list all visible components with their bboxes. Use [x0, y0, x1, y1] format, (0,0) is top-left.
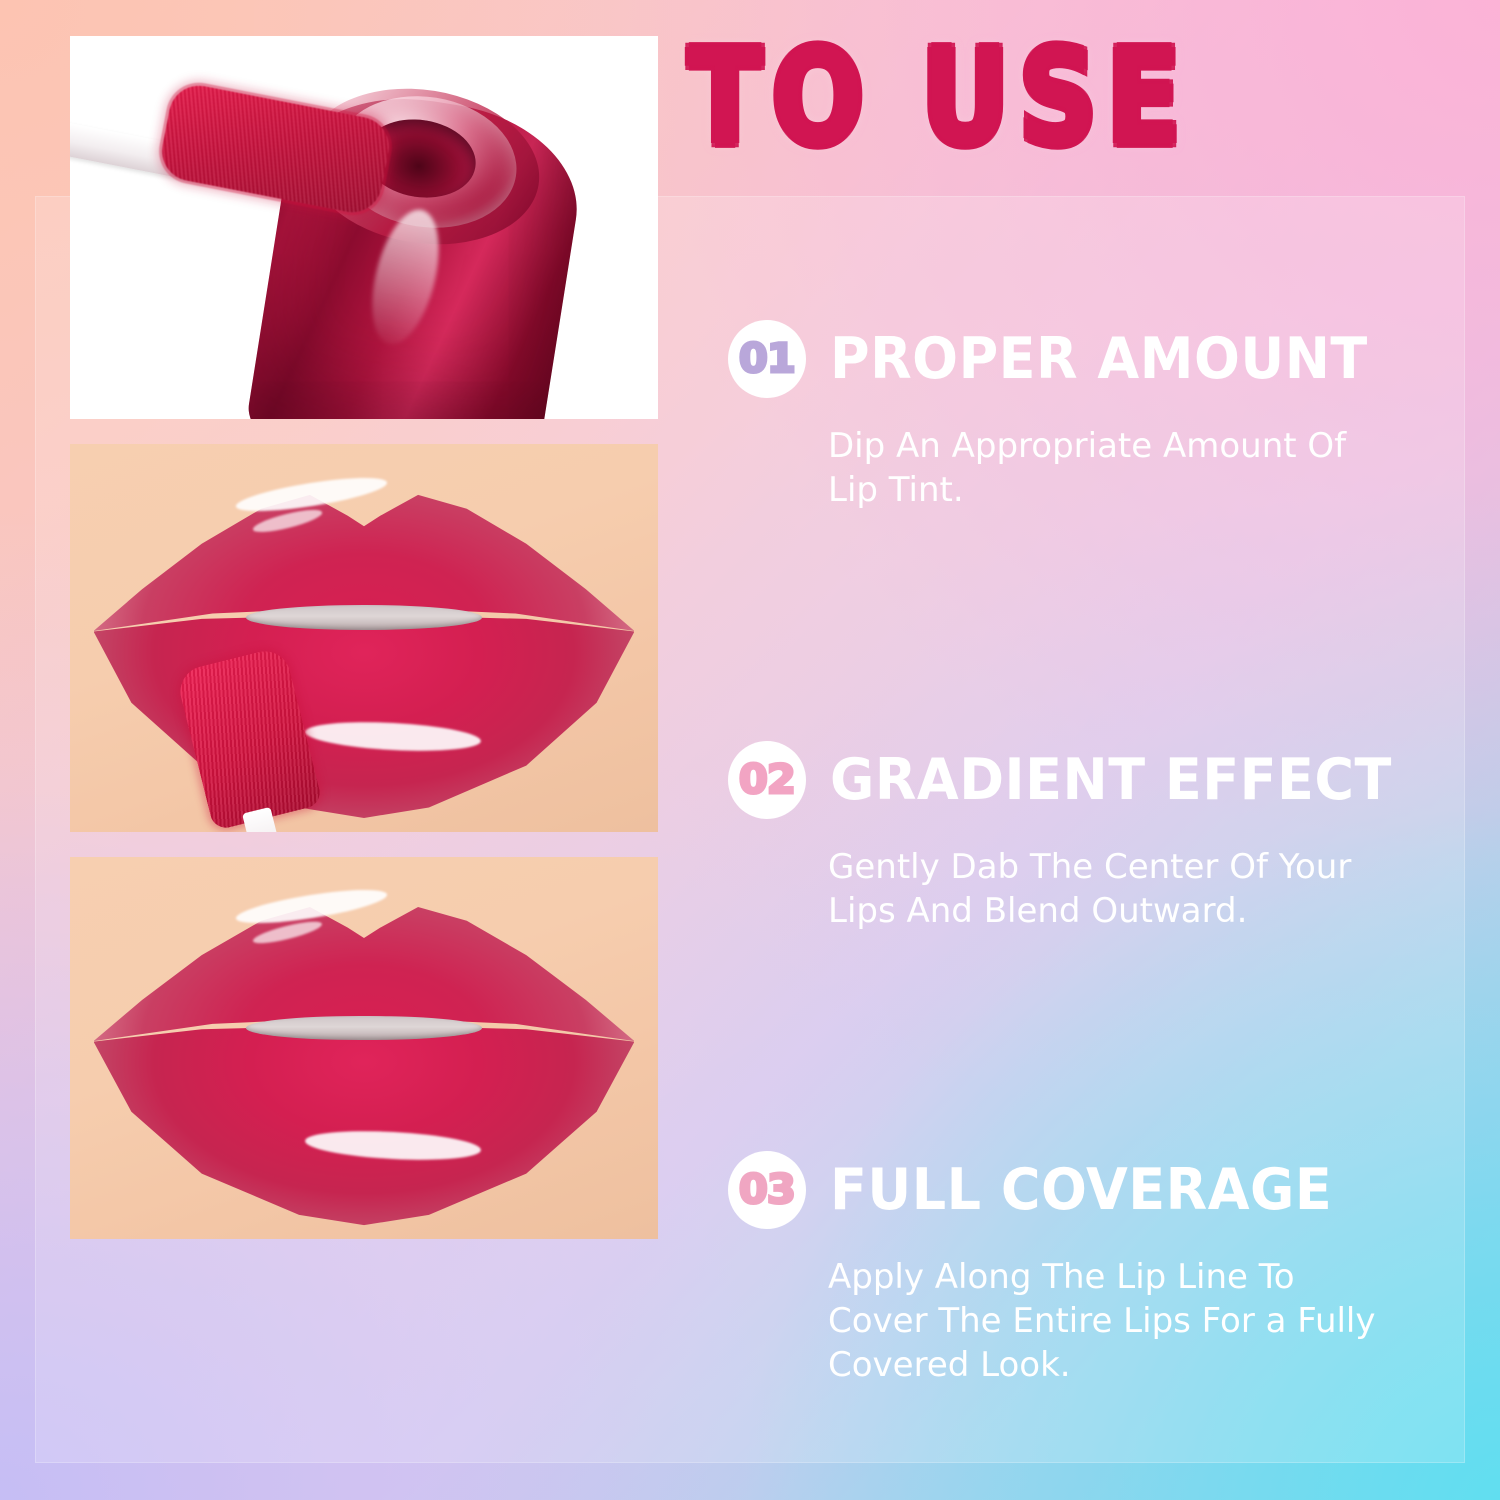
step-header: 01 PROPER AMOUNT: [728, 320, 1428, 398]
step-number: 01: [739, 336, 795, 382]
step-description: Apply Along The Lip Line To Cover The En…: [828, 1255, 1428, 1388]
teeth-gap: [246, 605, 481, 630]
step-number-badge: 02: [728, 741, 806, 819]
teeth-gap: [246, 1016, 481, 1041]
step-description: Dip An Appropriate Amount Of Lip Tint.: [828, 424, 1428, 512]
step-description: Gently Dab The Center Of Your Lips And B…: [828, 845, 1428, 933]
step-header: 03 FULL COVERAGE: [728, 1151, 1428, 1229]
step-title: PROPER AMOUNT: [830, 330, 1368, 387]
lip-tint-bottle-photo: [70, 36, 658, 419]
steps-column: 01 PROPER AMOUNT Dip An Appropriate Amou…: [728, 196, 1428, 1463]
gradient-lips-photo: [70, 444, 658, 832]
step-number: 02: [739, 757, 795, 803]
full-coverage-lips-photo: [70, 857, 658, 1239]
step-number: 03: [739, 1167, 795, 1213]
step-item: 02 GRADIENT EFFECT Gently Dab The Center…: [728, 741, 1428, 933]
how-to-use-infographic: HOW TO USE: [0, 0, 1500, 1500]
step-item: 03 FULL COVERAGE Apply Along The Lip Lin…: [728, 1151, 1428, 1388]
step-header: 02 GRADIENT EFFECT: [728, 741, 1428, 819]
step-number-badge: 03: [728, 1151, 806, 1229]
step-number-badge: 01: [728, 320, 806, 398]
step-item: 01 PROPER AMOUNT Dip An Appropriate Amou…: [728, 320, 1428, 512]
step-title: GRADIENT EFFECT: [830, 751, 1392, 808]
step-title: FULL COVERAGE: [830, 1161, 1332, 1218]
